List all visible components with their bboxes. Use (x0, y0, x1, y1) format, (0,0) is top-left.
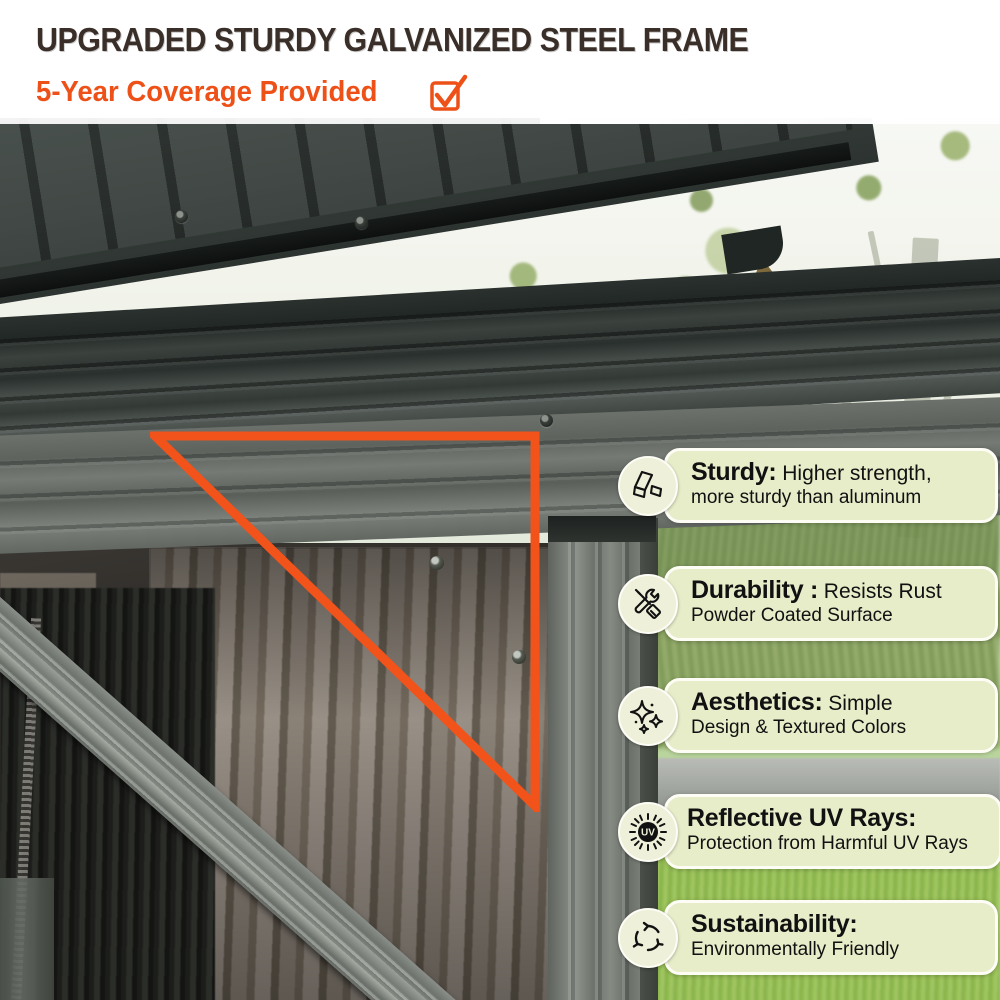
header-fade (540, 0, 1000, 124)
feature-text-inline: Simple (822, 692, 892, 715)
feature-line-1: Sustainability: (691, 912, 979, 938)
product-feature-image: UPGRADED STURDY GALVANIZED STEEL FRAME 5… (0, 0, 1000, 1000)
uv-sun-icon: UV (618, 802, 678, 862)
feature-aesthetics[interactable]: Aesthetics: Simple Design & Textured Col… (618, 678, 998, 753)
feature-line-1: Reflective UV Rays: (687, 806, 983, 832)
page-title: UPGRADED STURDY GALVANIZED STEEL FRAME (36, 20, 748, 60)
steel-bars-icon (618, 456, 678, 516)
feature-heading: Sturdy: (691, 458, 776, 486)
feature-line-2: more sturdy than aluminum (691, 486, 979, 510)
feature-text-inline: Resists Rust (818, 580, 942, 603)
feature-heading: Reflective UV Rays: (687, 804, 916, 832)
feature-sturdy[interactable]: Sturdy: Higher strength, more sturdy tha… (618, 448, 998, 523)
feature-text-inline: Higher strength, (776, 462, 931, 485)
feature-heading: Aesthetics: (691, 688, 822, 716)
feature-line-2: Powder Coated Surface (691, 604, 979, 628)
header-banner: UPGRADED STURDY GALVANIZED STEEL FRAME 5… (0, 0, 1000, 124)
feature-bubble: Durability : Resists Rust Powder Coated … (664, 566, 998, 641)
feature-sustainability[interactable]: Sustainability: Environmentally Friendly (618, 900, 998, 975)
wrench-screwdriver-icon (618, 574, 678, 634)
feature-line-1: Sturdy: Higher strength, (691, 460, 979, 486)
coverage-subtitle: 5-Year Coverage Provided (36, 74, 377, 110)
feature-line-1: Aesthetics: Simple (691, 690, 979, 716)
feature-line-2: Protection from Harmful UV Rays (687, 832, 983, 856)
feature-heading: Durability : (691, 576, 818, 604)
feature-bubble: Aesthetics: Simple Design & Textured Col… (664, 678, 998, 753)
feature-line-2: Design & Textured Colors (691, 716, 979, 740)
feature-bubble: Reflective UV Rays: Protection from Harm… (664, 794, 1000, 869)
feature-durability[interactable]: Durability : Resists Rust Powder Coated … (618, 566, 998, 641)
sparkles-icon (618, 686, 678, 746)
feature-reflective-uv-rays[interactable]: UV Reflective UV Rays: Protection from H… (618, 794, 1000, 869)
roof-screw (355, 216, 368, 229)
rail-screw (540, 414, 553, 427)
feature-line-1: Durability : Resists Rust (691, 578, 979, 604)
roof-screw (175, 210, 188, 223)
svg-text:UV: UV (641, 827, 655, 838)
far-post (0, 878, 54, 1000)
feature-bubble: Sustainability: Environmentally Friendly (664, 900, 998, 975)
recycle-icon (618, 908, 678, 968)
corner-brace-highlight (150, 430, 540, 812)
feature-bubble: Sturdy: Higher strength, more sturdy tha… (664, 448, 998, 523)
feature-line-2: Environmentally Friendly (691, 938, 979, 962)
checkbox-checked-icon (428, 74, 468, 114)
feature-heading: Sustainability: (691, 910, 857, 938)
